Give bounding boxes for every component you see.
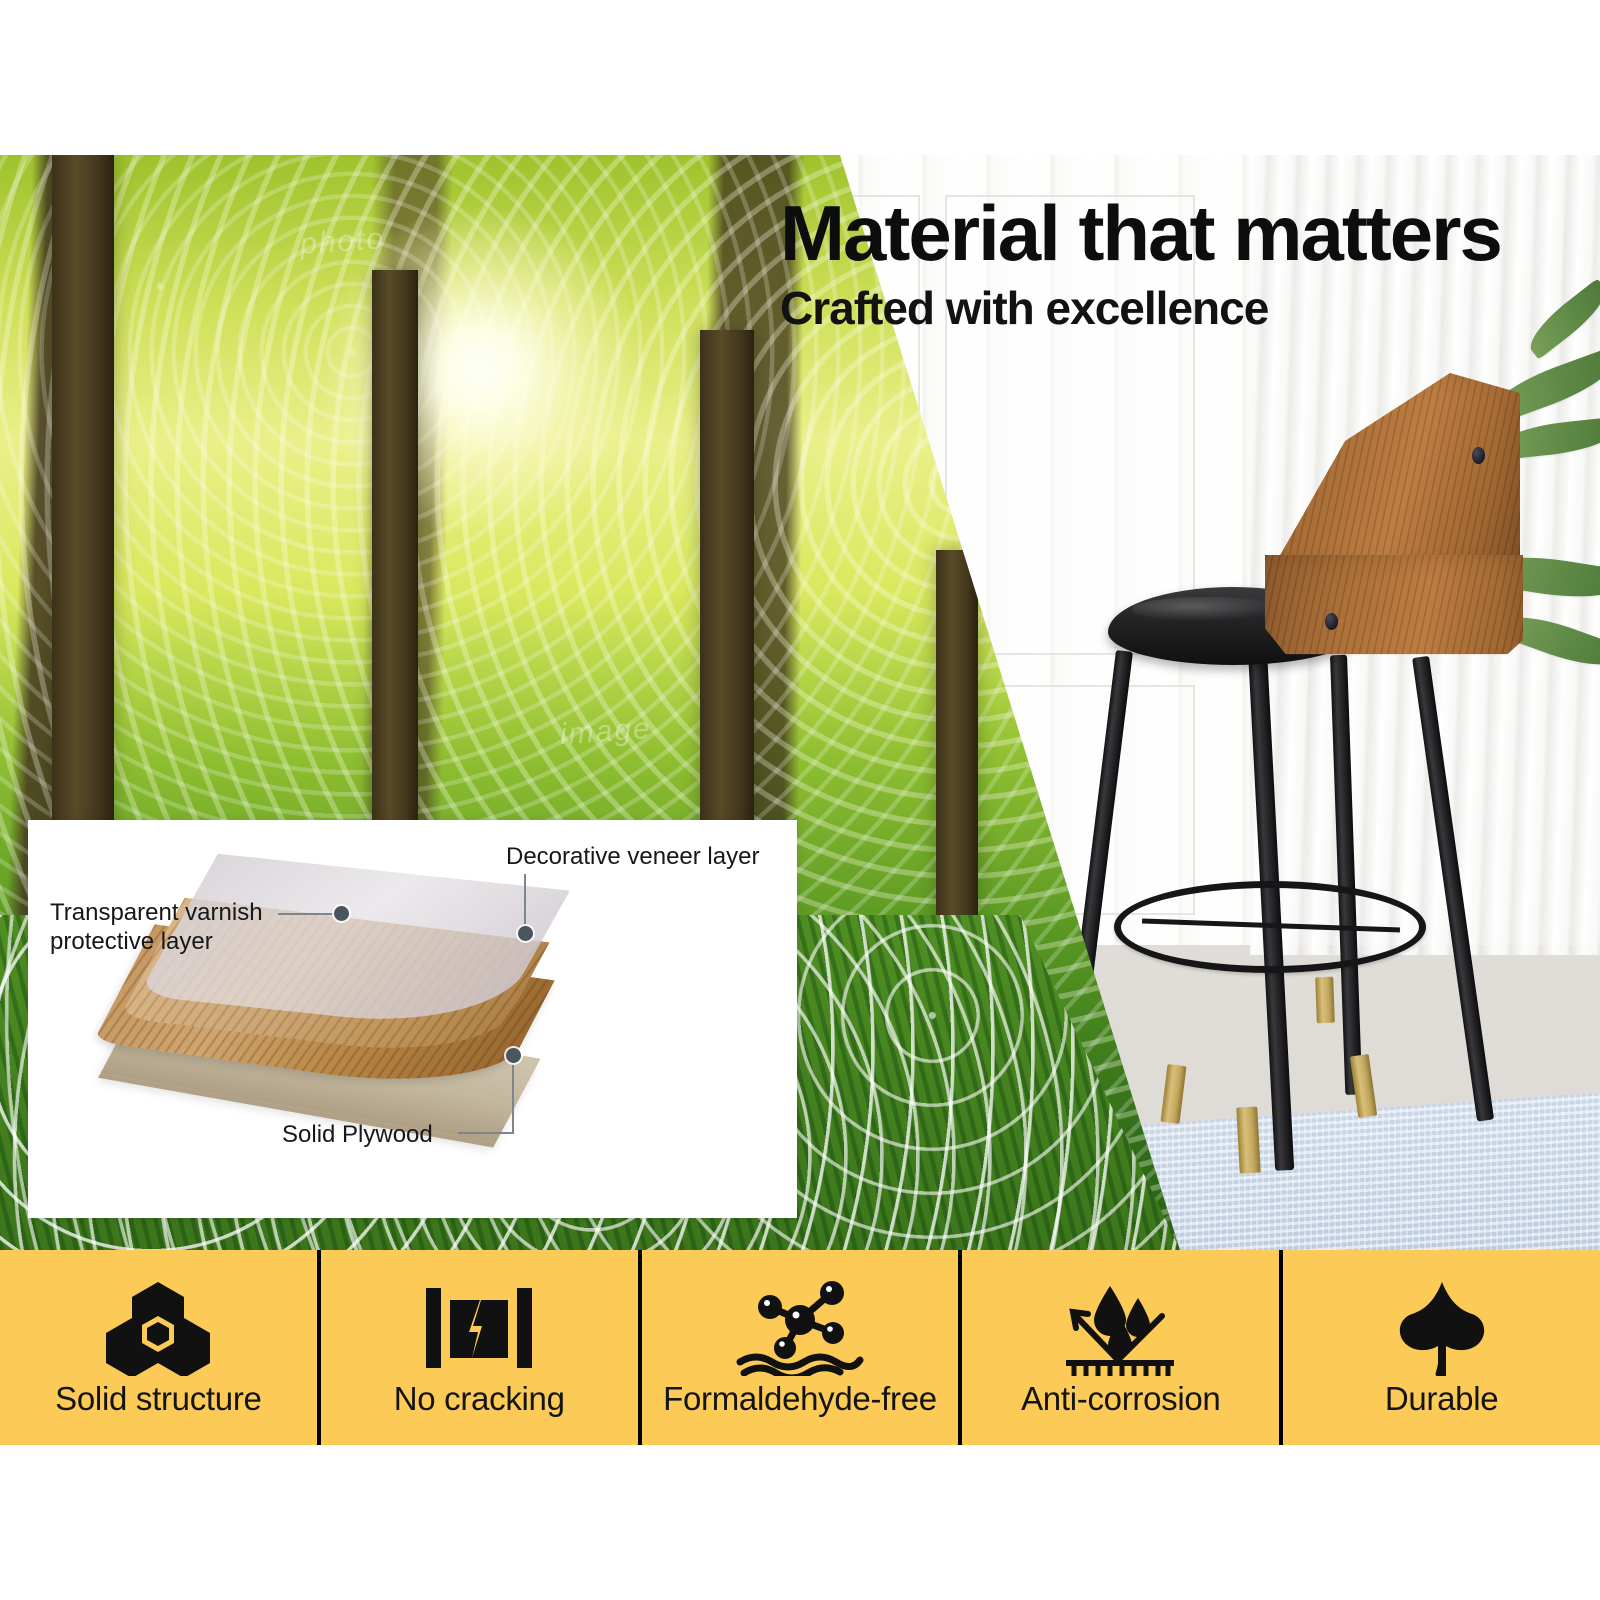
feature-label: Anti-corrosion (1021, 1382, 1220, 1415)
callout-line-veneer (524, 874, 526, 928)
feature-label: No cracking (394, 1382, 565, 1415)
stool-leg (1330, 655, 1362, 1095)
callout-line-plywood-v (512, 1056, 514, 1134)
plywood-diagram-panel: Transparent varnish protective layer Dec… (28, 820, 797, 1218)
stool-leg (1412, 656, 1494, 1122)
leg-gold-tip (1315, 977, 1335, 1024)
feature-anti-corrosion[interactable]: Anti-corrosion (962, 1250, 1279, 1445)
seat-highlight (1132, 597, 1282, 621)
leg-gold-tip (1161, 1064, 1187, 1124)
feature-formaldehyde-free[interactable]: Formaldehyde-free (642, 1250, 959, 1445)
molecule-waves-icon (725, 1280, 875, 1376)
callout-line-varnish (278, 913, 334, 915)
feature-label: Formaldehyde-free (663, 1382, 937, 1415)
callout-dot-veneer (518, 926, 533, 941)
hexagons-icon (83, 1280, 233, 1376)
plywood-diagram: Transparent varnish protective layer Dec… (28, 820, 797, 1218)
feature-no-cracking[interactable]: No cracking (321, 1250, 638, 1445)
wood-grain (1270, 373, 1520, 573)
watermark: photo (299, 222, 386, 262)
water-repellent-icon (1046, 1280, 1196, 1376)
leg-gold-tip (1236, 1106, 1260, 1173)
feature-label: Durable (1385, 1382, 1498, 1415)
callout-label-line1: Decorative veneer layer (506, 843, 759, 870)
page-title: Material that matters (780, 195, 1540, 271)
callout-label-plywood: Solid Plywood (282, 1120, 433, 1149)
callout-dot-plywood (506, 1048, 521, 1063)
leg-gold-tip (1350, 1054, 1377, 1118)
crack-panel-icon (404, 1280, 554, 1376)
callout-line-plywood (458, 1132, 514, 1134)
callout-label-line1: Solid Plywood (282, 1121, 433, 1148)
feature-durable[interactable]: Durable (1283, 1250, 1600, 1445)
feature-bar: Solid structure No cracking (0, 1250, 1600, 1445)
callout-label-line2: protective layer (50, 928, 213, 955)
backrest-rivet (1325, 613, 1338, 630)
leaf-icon (1367, 1280, 1517, 1376)
feature-solid-structure[interactable]: Solid structure (0, 1250, 317, 1445)
backrest-upper (1270, 373, 1520, 573)
bar-stool (1080, 365, 1550, 1195)
hero-composite: photo image Material that matters Crafte… (0, 155, 1600, 1250)
backrest-rivet (1472, 447, 1485, 464)
heading-block: Material that matters Crafted with excel… (780, 195, 1540, 331)
callout-label-varnish: Transparent varnish protective layer (50, 898, 263, 957)
callout-dot-varnish (334, 906, 349, 921)
callout-label-veneer: Decorative veneer layer (506, 842, 759, 871)
watermark: image (559, 712, 653, 752)
page-subtitle: Crafted with excellence (780, 285, 1540, 331)
callout-label-line1: Transparent varnish (50, 899, 263, 926)
product-infographic: photo image Material that matters Crafte… (0, 0, 1600, 1600)
feature-label: Solid structure (55, 1382, 261, 1415)
